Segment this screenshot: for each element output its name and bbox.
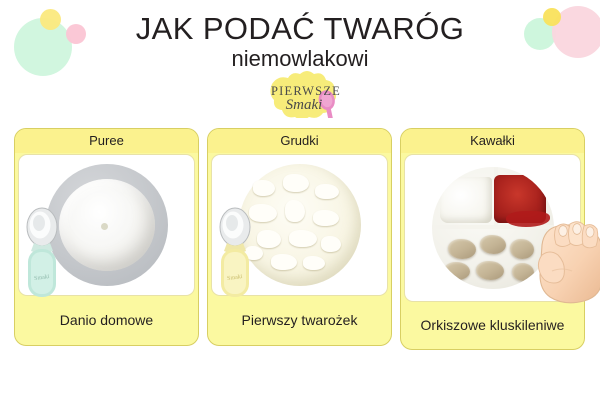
card-kawalki[interactable]: Kawałki xyxy=(400,128,585,350)
card-stage-label: Puree xyxy=(15,129,198,153)
card-puree[interactable]: Puree Smaki Danio dom xyxy=(14,128,199,346)
logo-text-line1: PIERWSZE xyxy=(271,84,341,98)
card-photo-dumplings xyxy=(404,154,581,302)
card-stage-label: Grudki xyxy=(208,129,391,153)
card-dish-line2: leniwe xyxy=(525,315,565,335)
stage-cards: Puree Smaki Danio dom xyxy=(0,128,600,348)
card-photo-puree: Smaki xyxy=(18,154,195,296)
page-title: JAK PODAĆ TWARÓG xyxy=(0,0,600,45)
grey-bowl-image xyxy=(46,164,168,286)
card-photo-curd: Smaki xyxy=(211,154,388,296)
brand-logo: PIERWSZE Smaki xyxy=(258,70,358,118)
card-dish-line1: Orkiszowe kluski xyxy=(421,315,525,335)
page-subtitle: niemowlakowi xyxy=(0,47,600,71)
baby-fist-icon xyxy=(530,211,600,307)
card-stage-label: Kawałki xyxy=(401,129,584,153)
white-cream-portion xyxy=(440,177,492,223)
yellow-baby-spoon-icon: Smaki xyxy=(214,203,256,303)
cottage-cheese-image xyxy=(239,164,361,286)
header: JAK PODAĆ TWARÓG niemowlakowi xyxy=(0,0,600,72)
card-dish-label: Pierwszy twarożek xyxy=(208,296,391,345)
infographic-page: JAK PODAĆ TWARÓG niemowlakowi PIERWSZE S… xyxy=(0,0,600,400)
logo-text-line2: Smaki xyxy=(286,97,323,113)
card-dish-label: Danio domowe xyxy=(15,296,198,345)
card-grudki[interactable]: Grudki xyxy=(207,128,392,346)
card-dish-label: Orkiszowe kluski leniwe xyxy=(401,302,584,349)
white-puree xyxy=(59,179,155,271)
mint-baby-spoon-icon: Smaki xyxy=(21,203,63,303)
